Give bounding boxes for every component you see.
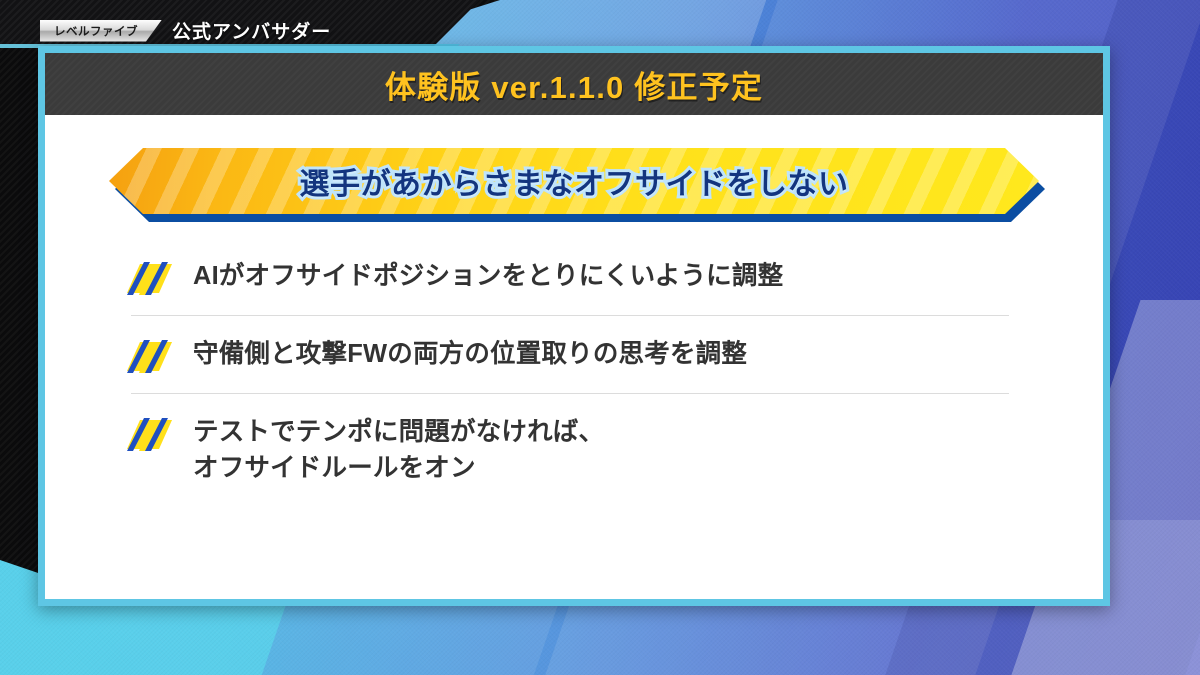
speed-slash-icon <box>123 340 173 373</box>
brand-badge: レベルファイブ <box>40 20 162 42</box>
list-item: AIがオフサイドポジションをとりにくいように調整 <box>123 244 1017 306</box>
list-item-line: AIがオフサイドポジションをとりにくいように調整 <box>193 258 783 294</box>
bullet-list: AIがオフサイドポジションをとりにくいように調整 守備側と <box>45 244 1103 497</box>
speed-slash-icon <box>123 262 173 295</box>
list-item-text: テストでテンポに問題がなければ、 オフサイドルールをオン <box>193 414 604 486</box>
content-card-inner: 体験版 ver.1.1.0 修正予定 選手があからさまなオフサイドをしない <box>45 53 1103 599</box>
speed-slash-icon <box>123 418 173 451</box>
page-title: 体験版 ver.1.1.0 修正予定 <box>385 62 763 107</box>
list-divider <box>131 393 1009 394</box>
list-item: テストでテンポに問題がなければ、 オフサイドルールをオン <box>123 403 1017 497</box>
ribbon-body: 選手があからさまなオフサイドをしない <box>109 148 1039 214</box>
list-item-line: オフサイドルールをオン <box>193 450 604 486</box>
brand-bar: レベルファイブ 公式アンバサダー <box>40 17 331 44</box>
brand-title: 公式アンバサダー <box>172 17 331 44</box>
list-divider <box>131 315 1009 316</box>
list-item-line: テストでテンポに問題がなければ、 <box>193 414 604 450</box>
slide-root: レベルファイブ 公式アンバサダー 体験版 ver.1.1.0 修正予定 選手があ… <box>0 0 1200 675</box>
list-item: 守備側と攻撃FWの両方の位置取りの思考を調整 <box>123 325 1017 384</box>
list-item-text: 守備側と攻撃FWの両方の位置取りの思考を調整 <box>193 336 747 372</box>
list-item-line: 守備側と攻撃FWの両方の位置取りの思考を調整 <box>193 336 747 372</box>
list-item-text: AIがオフサイドポジションをとりにくいように調整 <box>193 258 783 294</box>
content-card: 体験版 ver.1.1.0 修正予定 選手があからさまなオフサイドをしない <box>38 46 1110 606</box>
card-header: 体験版 ver.1.1.0 修正予定 <box>45 53 1103 115</box>
ribbon-banner: 選手があからさまなオフサイドをしない <box>109 148 1039 214</box>
ribbon-label: 選手があからさまなオフサイドをしない <box>300 159 849 203</box>
